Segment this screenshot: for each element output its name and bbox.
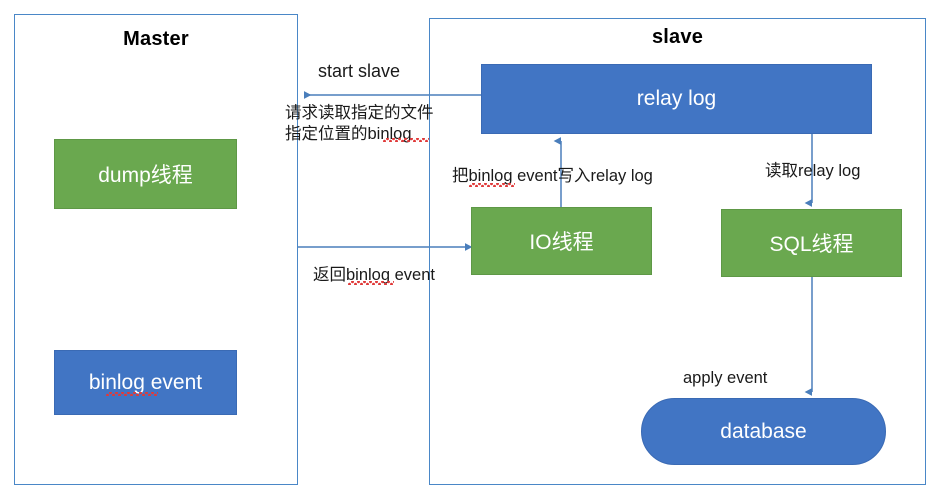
node-io-thread-label: IO线程: [529, 226, 593, 256]
edge-label-apply-event: apply event: [683, 368, 767, 388]
node-binlog-event-label: binlog event: [89, 371, 202, 395]
node-relay-log-label: relay log: [637, 87, 716, 111]
edge-label-request-read-line2: 指定位置的binlog: [285, 125, 412, 143]
node-dump-thread[interactable]: dump线程: [54, 139, 237, 209]
node-io-thread[interactable]: IO线程: [471, 207, 652, 275]
edge-label-start-slave: start slave: [318, 61, 400, 81]
node-binlog-event[interactable]: binlog event: [54, 350, 237, 415]
slave-title: slave: [429, 26, 926, 49]
node-relay-log[interactable]: relay log: [481, 64, 872, 134]
node-sql-thread[interactable]: SQL线程: [721, 209, 902, 277]
edge-label-return-binlog-event: 返回binlog event: [313, 265, 435, 285]
edge-label-request-read-line1: 请求读取指定的文件: [285, 104, 434, 122]
node-database-label: database: [720, 420, 806, 444]
diagram-canvas: Master slave dump线程 binlog event relay l…: [0, 0, 941, 499]
edge-label-request-read-file: 请求读取指定的文件 指定位置的binlog: [285, 103, 470, 145]
node-database[interactable]: database: [641, 398, 886, 465]
node-sql-thread-label: SQL线程: [769, 228, 853, 258]
master-title: Master: [14, 28, 298, 51]
node-dump-thread-label: dump线程: [98, 159, 193, 189]
edge-label-read-relay-log: 读取relay log: [765, 161, 860, 181]
edge-label-write-binlog-to-relay-log: 把binlog event写入relay log: [452, 166, 653, 186]
